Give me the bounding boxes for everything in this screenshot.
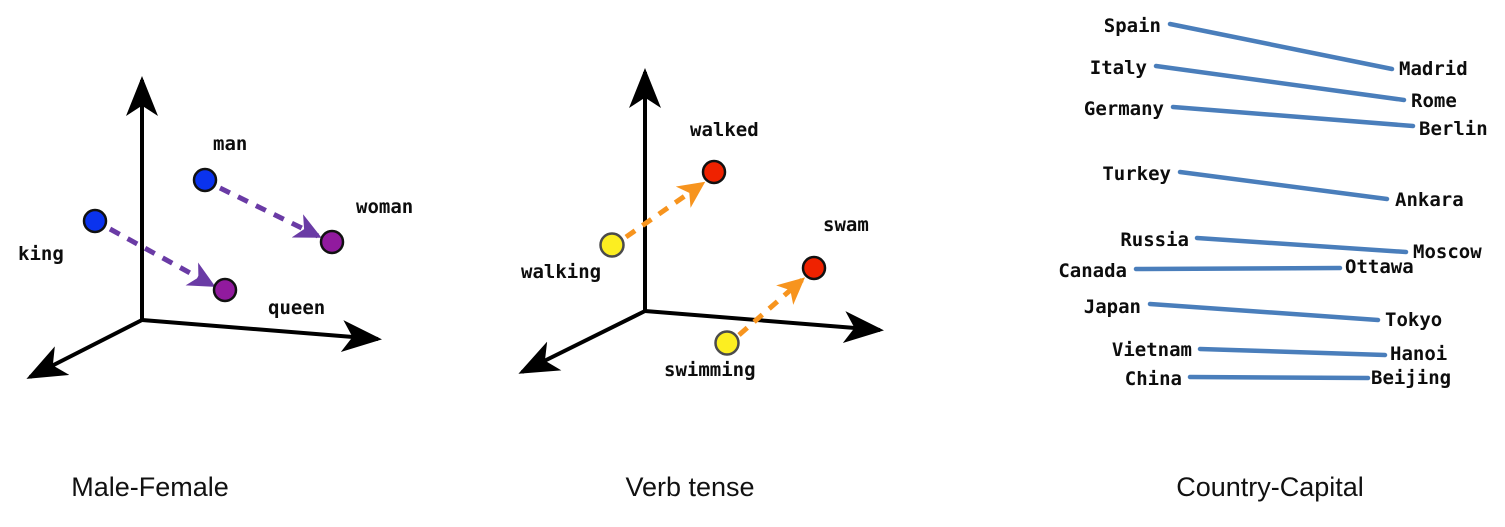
label-walking: walking <box>521 263 601 282</box>
line-japan-tokyo <box>1150 304 1378 320</box>
x-axis <box>142 320 378 339</box>
word-embedding-figure: king queen man woman Male-Female <box>0 0 1505 527</box>
line-vietnam-hanoi <box>1200 349 1385 355</box>
line-russia-moscow <box>1197 238 1406 252</box>
panel-male-female: king queen man woman Male-Female <box>0 0 470 527</box>
point-swam[interactable] <box>803 257 825 279</box>
label-man: man <box>213 135 247 154</box>
connector-lines <box>1136 24 1413 378</box>
label-germany: Germany <box>1084 100 1164 119</box>
label-walked: walked <box>690 121 759 140</box>
arrow-king-to-queen <box>110 229 212 285</box>
caption-country-capital: Country-Capital <box>1120 474 1420 501</box>
caption-male-female: Male-Female <box>0 474 300 501</box>
label-king: king <box>18 245 64 264</box>
line-germany-berlin <box>1173 107 1413 126</box>
line-turkey-ankara <box>1180 172 1387 199</box>
label-russia: Russia <box>1120 231 1189 250</box>
label-tokyo: Tokyo <box>1385 311 1442 330</box>
label-vietnam: Vietnam <box>1112 341 1192 360</box>
label-ankara: Ankara <box>1395 191 1464 210</box>
point-woman[interactable] <box>321 231 343 253</box>
line-italy-rome <box>1156 66 1404 100</box>
label-woman: woman <box>356 198 413 217</box>
data-points <box>601 161 826 355</box>
caption-verb-tense: Verb tense <box>540 474 840 501</box>
data-points <box>84 169 343 301</box>
point-swimming[interactable] <box>716 332 739 355</box>
line-canada-ottawa <box>1136 268 1340 269</box>
line-spain-madrid <box>1170 24 1392 69</box>
label-beijing: Beijing <box>1371 369 1451 388</box>
line-china-beijing <box>1190 377 1368 378</box>
z-axis <box>30 320 142 377</box>
x-axis <box>645 311 880 330</box>
panel-country-capital: Spain Italy Germany Turkey Russia Canada… <box>1000 0 1505 527</box>
point-walking[interactable] <box>601 234 624 257</box>
label-rome: Rome <box>1411 92 1457 111</box>
label-berlin: Berlin <box>1419 120 1488 139</box>
label-canada: Canada <box>1058 262 1127 281</box>
male-female-3d-plot <box>0 0 470 527</box>
arrow-swimming-to-swam <box>739 280 802 335</box>
axes-group <box>30 80 378 377</box>
point-king[interactable] <box>84 210 106 232</box>
point-walked[interactable] <box>703 161 725 183</box>
arrow-man-to-woman <box>220 188 318 236</box>
label-china: China <box>1125 370 1182 389</box>
point-man[interactable] <box>194 169 216 191</box>
label-japan: Japan <box>1084 298 1141 317</box>
label-swam: swam <box>823 216 869 235</box>
label-italy: Italy <box>1090 59 1147 78</box>
label-ottawa: Ottawa <box>1345 258 1414 277</box>
label-madrid: Madrid <box>1399 60 1468 79</box>
panel-verb-tense: walking walked swimming swam Verb tense <box>470 0 940 527</box>
label-swimming: swimming <box>664 361 756 380</box>
label-spain: Spain <box>1104 17 1161 36</box>
label-moscow: Moscow <box>1413 243 1482 262</box>
label-queen: queen <box>268 299 325 318</box>
label-hanoi: Hanoi <box>1390 345 1447 364</box>
label-turkey: Turkey <box>1102 165 1171 184</box>
z-axis <box>522 311 645 372</box>
arrow-walking-to-walked <box>626 184 702 237</box>
point-queen[interactable] <box>214 279 236 301</box>
